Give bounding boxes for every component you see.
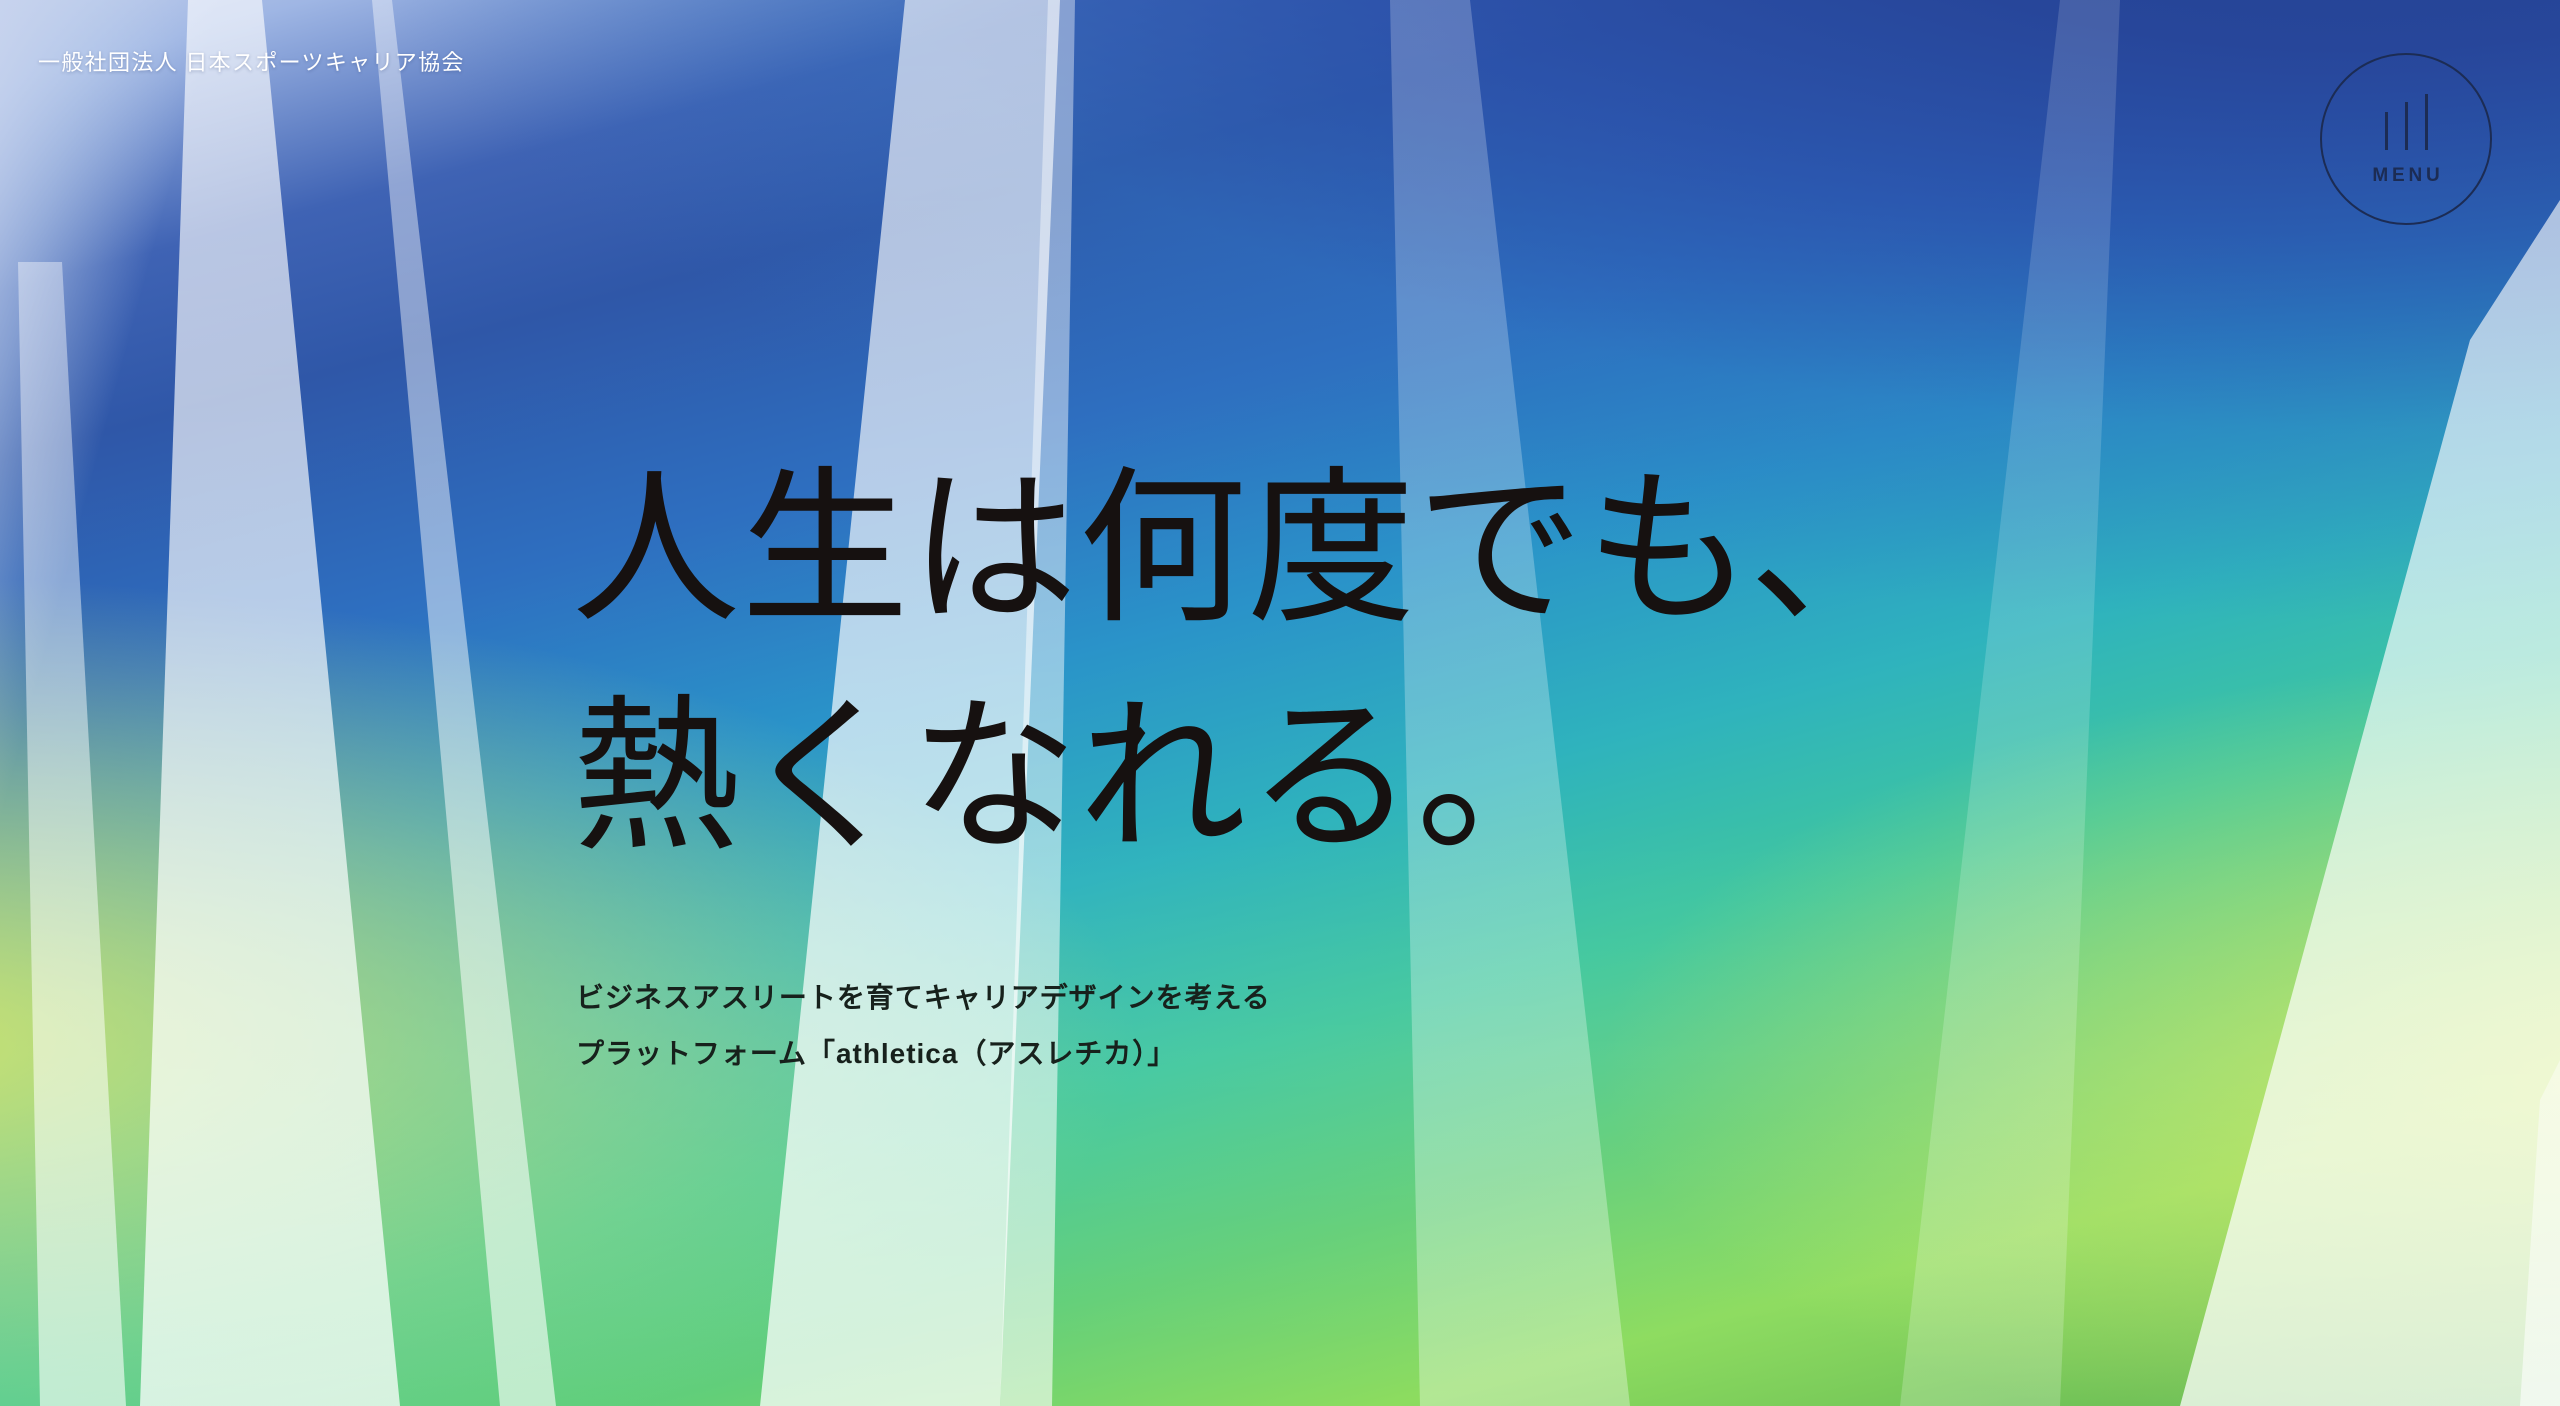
headline-line-2: 熱くなれる。 xyxy=(572,663,1918,891)
menu-button-label: MENU xyxy=(2368,166,2443,185)
hero-headline: 人生は何度でも、 熱くなれる。 xyxy=(572,435,1918,892)
headline-line-1: 人生は何度でも、 xyxy=(572,435,1918,663)
subcopy-line-1: ビジネスアスリートを育てキャリアデザインを考える xyxy=(576,970,1271,1026)
hero-content: 一般社団法人 日本スポーツキャリア協会 MENU 人生は何度でも、 熱くなれる。… xyxy=(0,0,2560,1406)
organization-name: 一般社団法人 日本スポーツキャリア協会 xyxy=(38,50,465,76)
menu-button[interactable]: MENU xyxy=(2320,53,2492,225)
three-bars-icon xyxy=(2385,94,2428,150)
hero-subcopy: ビジネスアスリートを育てキャリアデザインを考える プラットフォーム「athlet… xyxy=(576,970,1271,1082)
subcopy-line-2: プラットフォーム「athletica（アスレチカ）」 xyxy=(576,1026,1271,1082)
hero-section: 一般社団法人 日本スポーツキャリア協会 MENU 人生は何度でも、 熱くなれる。… xyxy=(0,0,2560,1406)
